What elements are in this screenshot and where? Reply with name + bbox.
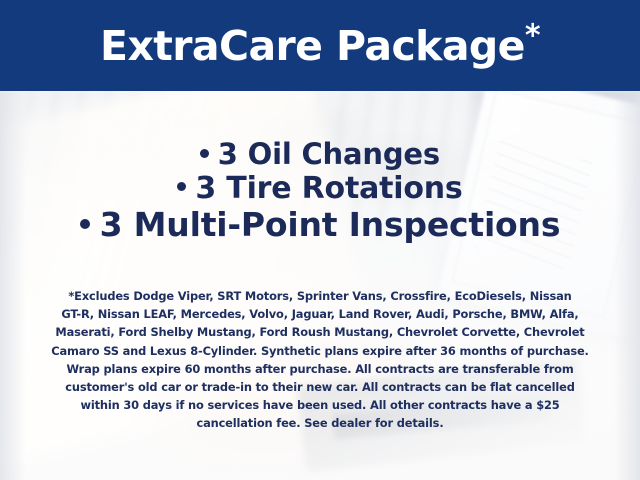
header-banner: ExtraCare Package*: [0, 0, 640, 91]
disclaimer-line: within 30 days if no services have been …: [22, 396, 618, 414]
page-title-text: ExtraCare Package: [100, 22, 525, 70]
page-title: ExtraCare Package*: [100, 26, 540, 67]
disclaimer-line: *Excludes Dodge Viper, SRT Motors, Sprin…: [22, 287, 618, 305]
bullet-dot-icon: [80, 219, 90, 229]
disclaimer-line: cancellation fee. See dealer for details…: [22, 414, 618, 432]
extracare-package-ad: ExtraCare Package* 3 Oil Changes 3 Tire …: [0, 0, 640, 480]
page-title-asterisk: *: [525, 18, 540, 53]
list-item-label: 3 Oil Changes: [218, 137, 440, 171]
list-item: 3 Multi-Point Inspections: [0, 206, 640, 244]
disclaimer-line: GT-R, Nissan LEAF, Mercedes, Volvo, Jagu…: [22, 305, 618, 323]
disclaimer-line: Wrap plans expire 60 months after purcha…: [22, 360, 618, 378]
list-item: 3 Oil Changes: [0, 138, 640, 172]
bullet-dot-icon: [177, 182, 186, 191]
benefits-list: 3 Oil Changes 3 Tire Rotations 3 Multi-P…: [0, 138, 640, 245]
list-item-label: 3 Tire Rotations: [195, 171, 462, 206]
disclaimer-line: Maserati, Ford Shelby Mustang, Ford Rous…: [22, 323, 618, 341]
bullet-dot-icon: [200, 149, 209, 158]
list-item-label: 3 Multi-Point Inspections: [100, 205, 561, 244]
disclaimer-text: *Excludes Dodge Viper, SRT Motors, Sprin…: [22, 287, 618, 433]
list-item: 3 Tire Rotations: [0, 172, 640, 207]
disclaimer-line: customer's old car or trade-in to their …: [22, 378, 618, 396]
disclaimer-line: Camaro SS and Lexus 8-Cylinder. Syntheti…: [22, 342, 618, 360]
